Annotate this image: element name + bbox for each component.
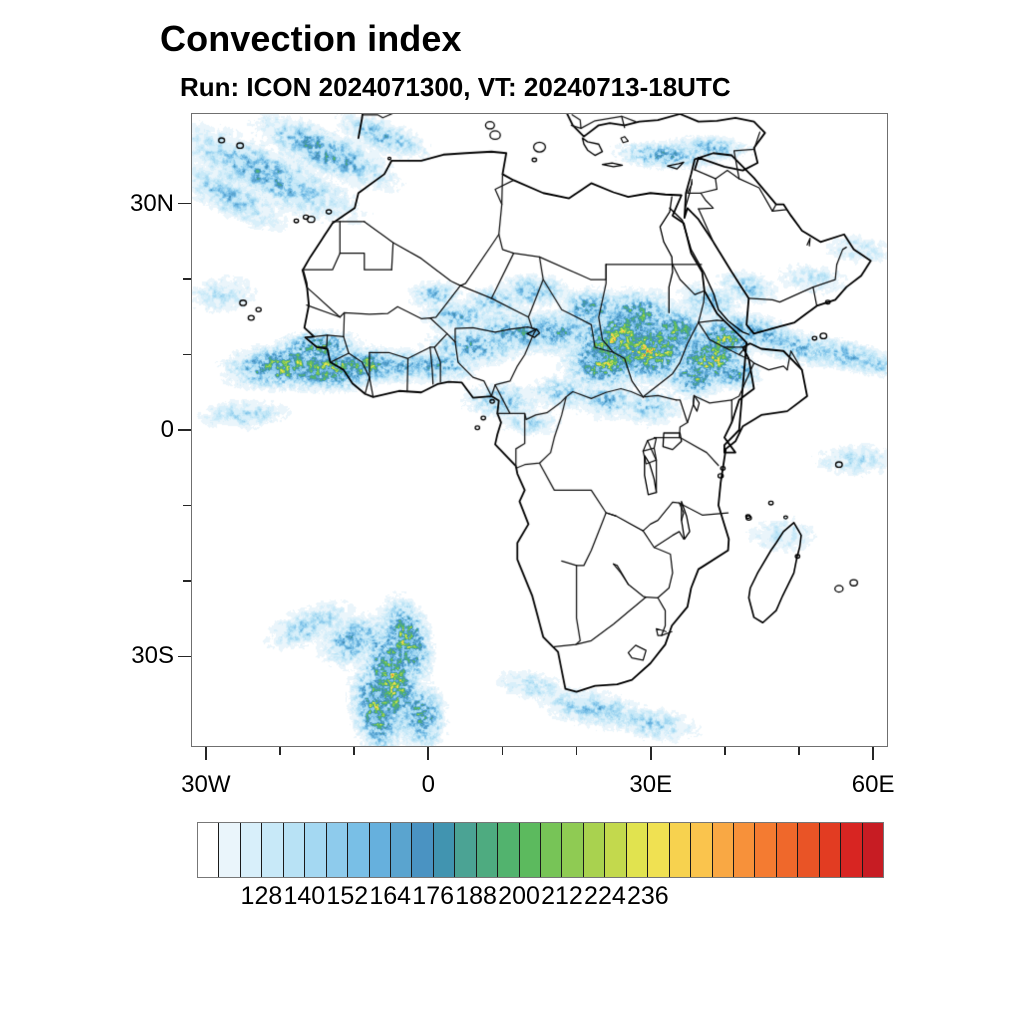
colorbar-cell — [219, 823, 240, 877]
page-title: Convection index — [160, 18, 462, 60]
colorbar-cell — [262, 823, 283, 877]
colorbar-cell — [820, 823, 841, 877]
colorbar — [197, 822, 884, 878]
x-axis-major-tick — [872, 747, 874, 760]
x-axis-minor-tick — [353, 747, 354, 755]
x-axis-minor-tick — [502, 747, 503, 755]
convection-index-map-page: Convection index Run: ICON 2024071300, V… — [0, 0, 1024, 1024]
map-plot-area — [191, 113, 888, 747]
colorbar-tick-label-4: 176 — [412, 882, 454, 911]
colorbar-tick-label-6: 200 — [498, 882, 540, 911]
colorbar-cell — [198, 823, 219, 877]
x-axis-major-tick — [205, 747, 207, 760]
y-axis-minor-tick — [183, 505, 191, 506]
colorbar-cell — [327, 823, 348, 877]
colorbar-cell — [284, 823, 305, 877]
colorbar-tick-label-7: 212 — [541, 882, 583, 911]
y-axis-minor-tick — [183, 354, 191, 355]
y-axis-minor-tick — [183, 278, 191, 279]
colorbar-cell — [777, 823, 798, 877]
colorbar-cell — [584, 823, 605, 877]
colorbar-cell — [755, 823, 776, 877]
x-axis-minor-tick — [279, 747, 280, 755]
colorbar-cell — [627, 823, 648, 877]
y-axis-major-tick — [178, 656, 191, 658]
y-axis-label-1: 0 — [96, 416, 174, 444]
colorbar-tick-label-1: 140 — [283, 882, 325, 911]
colorbar-cell — [370, 823, 391, 877]
x-axis-major-tick — [650, 747, 652, 760]
colorbar-cell — [713, 823, 734, 877]
y-axis-label-2: 30S — [96, 642, 174, 670]
colorbar-cell — [241, 823, 262, 877]
x-axis-label-3: 60E — [852, 771, 895, 799]
colorbar-cell — [841, 823, 862, 877]
colorbar-cell — [691, 823, 712, 877]
colorbar-cell — [734, 823, 755, 877]
x-axis-label-0: 30W — [181, 771, 230, 799]
y-axis-major-tick — [178, 429, 191, 431]
colorbar-tick-label-9: 236 — [627, 882, 669, 911]
y-axis-label-0: 30N — [96, 190, 174, 218]
colorbar-tick-label-3: 164 — [369, 882, 411, 911]
run-valid-time-subtitle: Run: ICON 2024071300, VT: 20240713-18UTC — [180, 72, 731, 103]
colorbar-cell — [863, 823, 883, 877]
colorbar-cell — [434, 823, 455, 877]
colorbar-cell — [305, 823, 326, 877]
x-axis-minor-tick — [724, 747, 725, 755]
colorbar-cell — [520, 823, 541, 877]
colorbar-tick-label-2: 152 — [326, 882, 368, 911]
colorbar-cell — [605, 823, 626, 877]
colorbar-cell — [670, 823, 691, 877]
y-axis-major-tick — [178, 203, 191, 205]
colorbar-cell — [391, 823, 412, 877]
colorbar-tick-label-5: 188 — [455, 882, 497, 911]
colorbar-cell — [562, 823, 583, 877]
colorbar-cell — [348, 823, 369, 877]
convection-index-raster — [192, 114, 887, 746]
colorbar-cell — [412, 823, 433, 877]
x-axis-major-tick — [427, 747, 429, 760]
colorbar-cell — [498, 823, 519, 877]
y-axis-minor-tick — [183, 580, 191, 581]
x-axis-label-2: 30E — [629, 771, 672, 799]
colorbar-cell — [541, 823, 562, 877]
colorbar-cell — [455, 823, 476, 877]
x-axis-minor-tick — [576, 747, 577, 755]
colorbar-cell — [477, 823, 498, 877]
colorbar-tick-label-0: 128 — [241, 882, 283, 911]
colorbar-cells — [197, 822, 884, 878]
colorbar-cell — [648, 823, 669, 877]
x-axis-label-1: 0 — [422, 771, 435, 799]
colorbar-tick-label-8: 224 — [584, 882, 626, 911]
x-axis-minor-tick — [798, 747, 799, 755]
colorbar-cell — [798, 823, 819, 877]
